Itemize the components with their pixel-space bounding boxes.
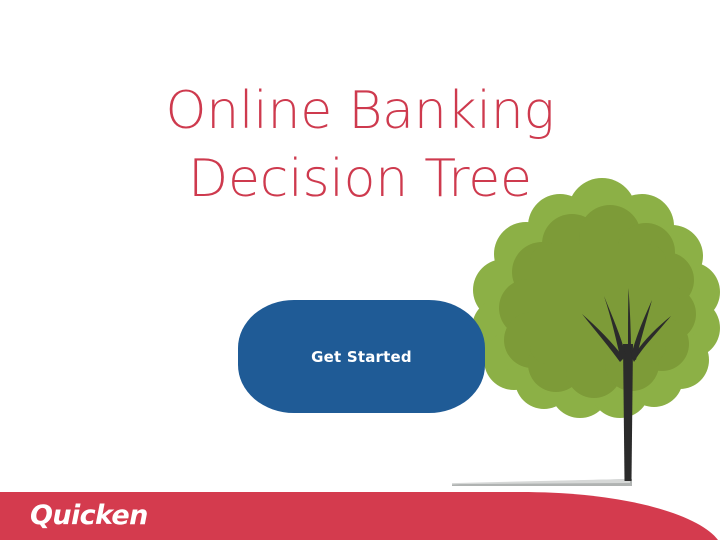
title-line-2: Decision Tree [0,146,720,214]
canopy-inner-icon [499,205,696,398]
canopy-outer-icon [472,178,720,418]
title-line-1: Online Banking [0,78,720,146]
get-started-button-label: Get Started [311,348,412,366]
tree-shadow-icon [452,479,632,486]
slide-canvas: Online Banking Decision Tree [0,0,720,540]
get-started-button[interactable]: Get Started [238,300,485,413]
tree-trunk-icon [582,288,671,481]
quicken-logo: Quicken [30,500,148,531]
tree-illustration [452,168,720,494]
tree-shadow-highlight-icon [452,479,630,485]
page-title: Online Banking Decision Tree [0,78,720,213]
